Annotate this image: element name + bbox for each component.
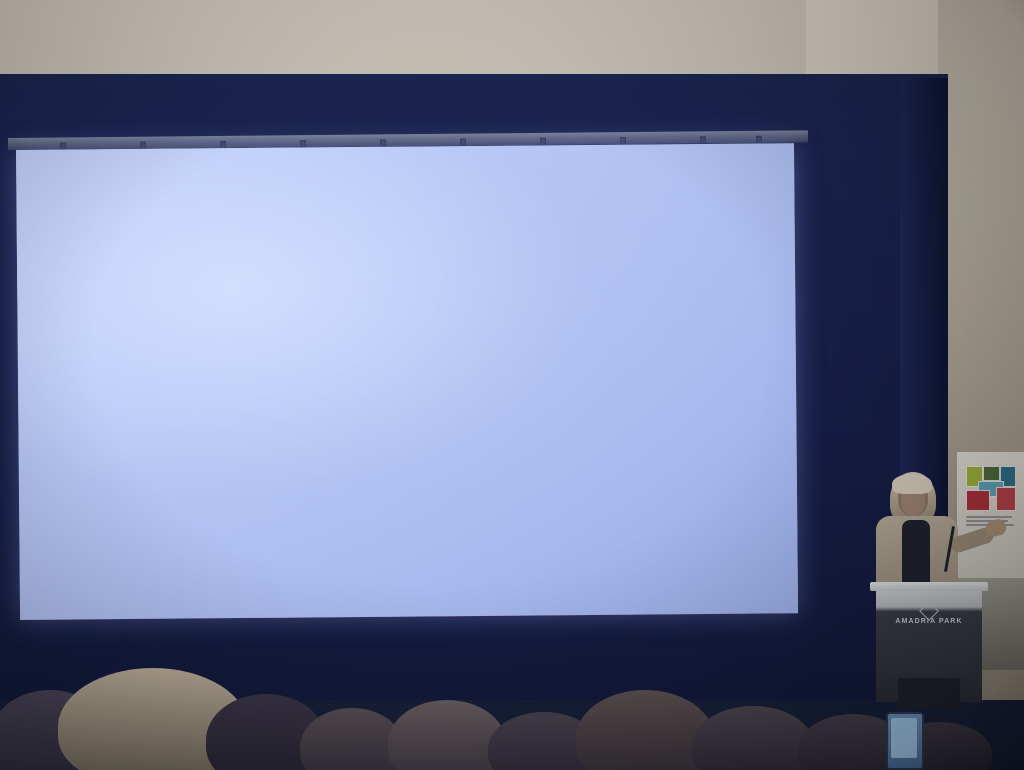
modular-row: Modul F xyxy=(414,415,764,459)
modular-box-label: Modul D xyxy=(465,374,526,392)
logo-caption-line xyxy=(756,594,782,596)
slide-content: Izvedba modula Linearni raspored Modular… xyxy=(16,143,798,620)
event-branding: 9. DANI STRUKOVNIH NASTAVNIKA 24. - 26. … xyxy=(44,584,264,611)
eu-flag-logo-mark xyxy=(728,585,752,602)
lectern-top-surface xyxy=(870,582,988,591)
croatia-gov-logo-mark xyxy=(571,587,584,603)
conference-hall-scene: Izvedba modula Linearni raspored Modular… xyxy=(0,0,1024,770)
event-name: DANI STRUKOVNIH NASTAVNIKA xyxy=(71,585,264,599)
modular-box: Modul A xyxy=(413,306,521,348)
croatia-gov-logo xyxy=(571,586,622,602)
linear-bar: Modul A xyxy=(47,297,365,342)
logo-caption-line xyxy=(501,598,543,600)
eu-flag-logo-caption xyxy=(756,590,784,596)
logo-caption-line xyxy=(670,589,686,591)
event-dates: 24. - 26. 11. 2025. | Šibenik xyxy=(71,598,264,609)
presenter-hair-front xyxy=(892,474,932,494)
linear-bar xyxy=(49,441,367,486)
timeline-arrow-linear xyxy=(47,533,369,552)
slide-title: Izvedba modula xyxy=(72,186,278,219)
linear-bar xyxy=(49,489,367,534)
modular-box: Modul D xyxy=(414,361,577,403)
modular-box: Modul B xyxy=(530,305,638,347)
presenter-top xyxy=(902,520,930,582)
modular-box-label: Modul E xyxy=(638,372,698,390)
modular-box: Modul F xyxy=(414,416,749,460)
linear-bar: Modul B xyxy=(48,345,366,390)
event-name-nastavnika: NASTAVNIKA xyxy=(187,585,264,598)
logo-caption-line xyxy=(501,590,541,592)
logo-caption-line xyxy=(588,593,622,595)
phone-screen xyxy=(891,718,917,758)
esf-plus-logo-caption xyxy=(670,589,700,598)
footer-logo-strip xyxy=(480,584,784,604)
modular-column-heading: Modularni raspored xyxy=(455,254,655,280)
logo-caption-line xyxy=(756,590,784,592)
esf-plus-logo-mark xyxy=(650,586,666,602)
modular-box-label: Modul B xyxy=(554,317,615,335)
modular-box-label: Modul F xyxy=(553,429,612,447)
event-name-strukovnih: STRUKOVNIH xyxy=(104,586,187,599)
linear-bar-label: Modul A xyxy=(174,310,238,329)
linear-bar xyxy=(48,393,366,438)
timeline-arrow-modular xyxy=(415,520,755,539)
event-name-dani: DANI xyxy=(71,587,104,599)
modular-row: Modul AModul BModul C xyxy=(413,303,763,347)
linear-bar-label: Modul B xyxy=(175,358,240,377)
event-number: 9. xyxy=(44,586,65,611)
audience-head xyxy=(692,706,814,770)
croatia-gov-logo-caption xyxy=(588,590,622,599)
audience-silhouettes xyxy=(0,652,1024,770)
asoo-logo-mark xyxy=(480,587,497,604)
logo-caption-line xyxy=(588,590,618,592)
logo-caption-line xyxy=(670,593,700,595)
linear-schedule-stack: Modul AModul B xyxy=(47,297,367,540)
audience-phone xyxy=(886,712,924,770)
rollup-logo-square xyxy=(996,487,1016,511)
modular-box-label: Modul C xyxy=(671,316,732,334)
asoo-logo xyxy=(480,586,543,604)
logo-caption-line xyxy=(501,594,537,596)
modular-box: Modul E xyxy=(586,360,749,402)
projected-slide: Izvedba modula Linearni raspored Modular… xyxy=(16,143,798,620)
asoo-logo-caption xyxy=(501,590,543,600)
logo-caption-line xyxy=(670,596,692,598)
modular-box-label: Modul A xyxy=(437,318,497,336)
lectern-brand-label: AMADRIA PARK xyxy=(876,618,982,625)
esf-plus-logo xyxy=(650,586,700,602)
modular-box: Modul C xyxy=(647,304,755,346)
eu-flag-logo xyxy=(728,584,784,601)
linear-column-heading: Linearni raspored xyxy=(105,252,286,278)
logo-caption-line xyxy=(588,597,616,599)
slide-footer: 9. DANI STRUKOVNIH NASTAVNIKA 24. - 26. … xyxy=(20,567,798,620)
modular-row: Modul DModul E xyxy=(414,359,764,403)
modular-schedule-grid: Modul AModul BModul CModul DModul EModul… xyxy=(413,303,764,474)
